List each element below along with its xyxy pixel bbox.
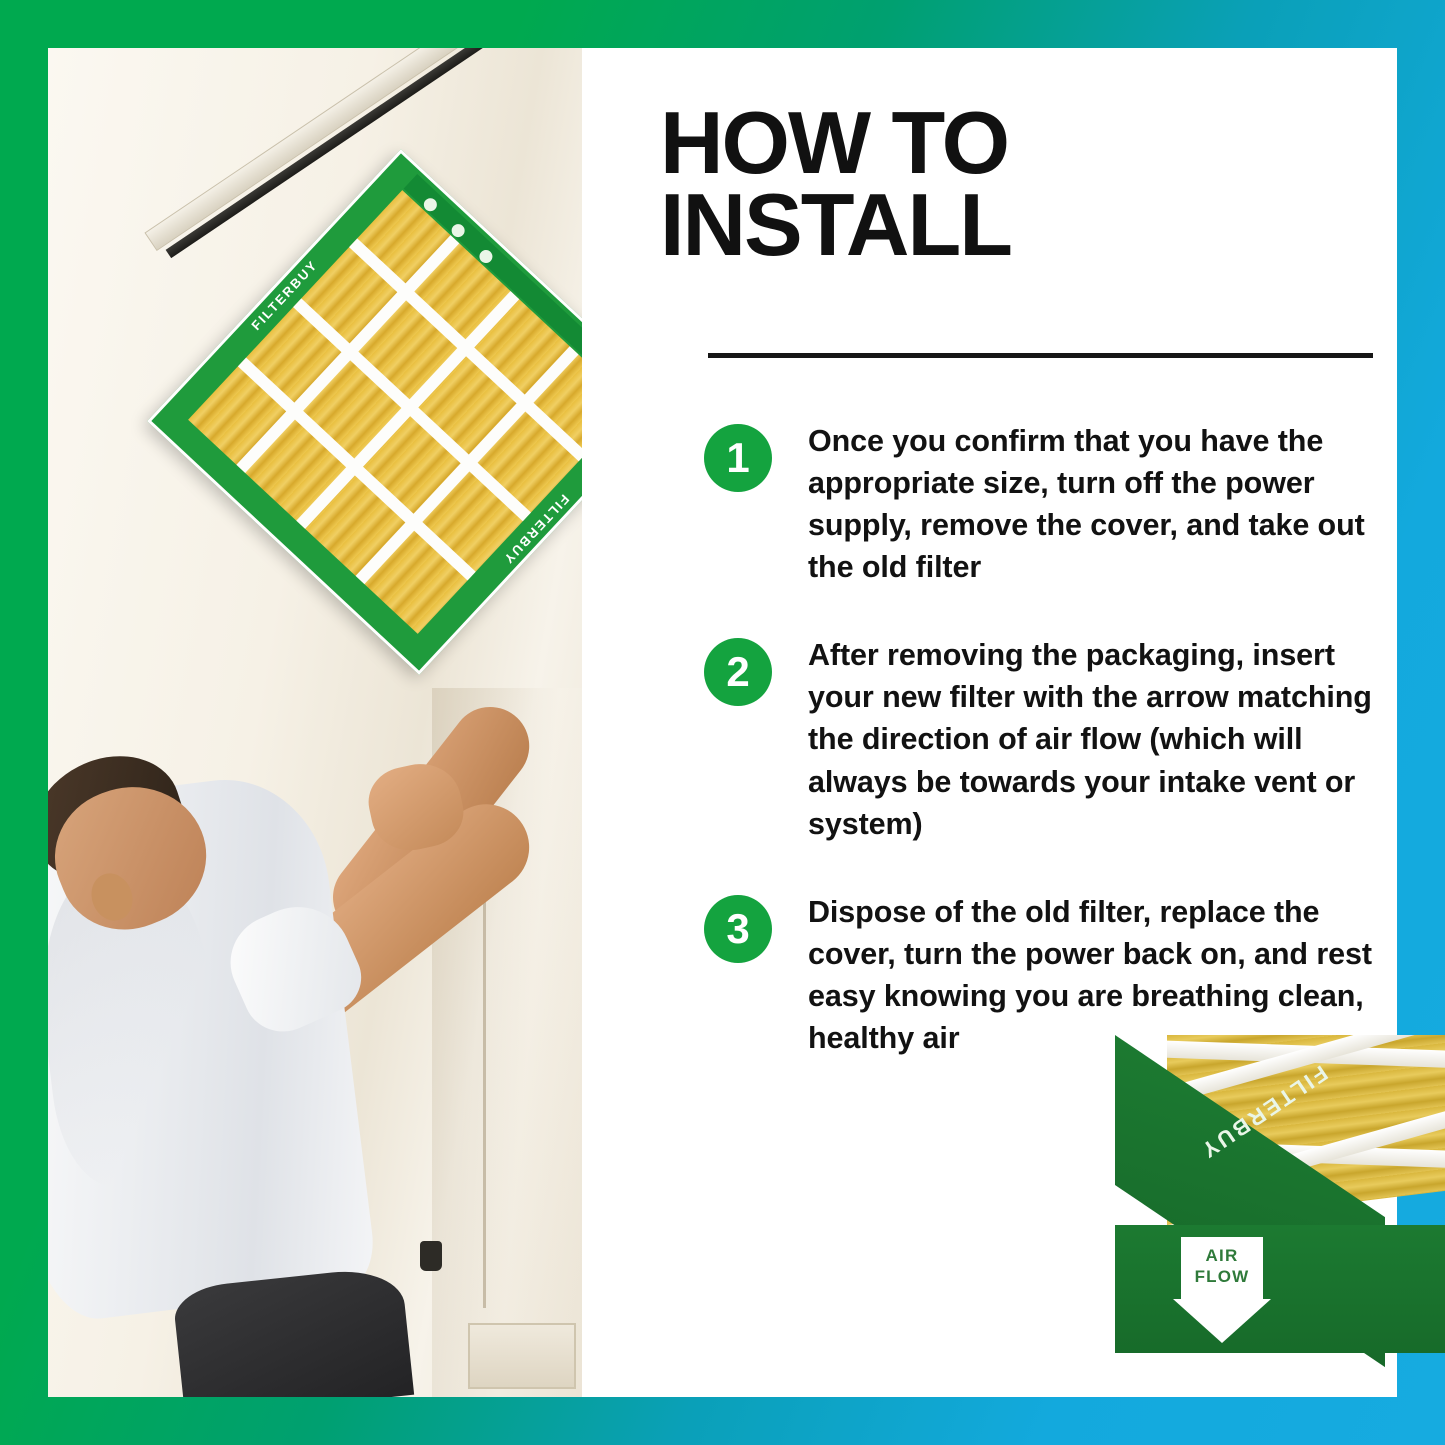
step-item: 1 Once you confirm that you have the app… (704, 420, 1404, 588)
product-front-frame: AIR FLOW (1115, 1225, 1445, 1353)
page-title: HOW TO INSTALL (660, 102, 1360, 266)
air-flow-label-line-1: AIR (1173, 1245, 1271, 1266)
step-number-badge: 2 (704, 638, 772, 706)
photo-floor-vent (468, 1323, 576, 1389)
page-title-line-1: HOW TO (660, 102, 1360, 184)
air-flow-label-line-2: FLOW (1173, 1266, 1271, 1287)
step-text: Once you confirm that you have the appro… (808, 420, 1388, 588)
arrow-head (1173, 1299, 1271, 1343)
step-number-badge: 3 (704, 895, 772, 963)
title-divider (708, 353, 1373, 358)
steps-list: 1 Once you confirm that you have the app… (704, 420, 1404, 1105)
poster-frame: FILTERBUY FILTERBUY (0, 0, 1445, 1445)
step-item: 2 After removing the packaging, insert y… (704, 634, 1404, 844)
step-item: 3 Dispose of the old filter, replace the… (704, 891, 1404, 1059)
step-text: Dispose of the old filter, replace the c… (808, 891, 1388, 1059)
page-title-line-2: INSTALL (660, 184, 1360, 266)
photo-person (48, 697, 468, 1397)
air-flow-arrow-icon: AIR FLOW (1173, 1237, 1271, 1343)
air-flow-label: AIR FLOW (1173, 1245, 1271, 1288)
product-filter-image: FILTERBUY AIR FLOW (1115, 1035, 1445, 1380)
step-number-badge: 1 (704, 424, 772, 492)
step-text: After removing the packaging, insert you… (808, 634, 1388, 844)
install-photo: FILTERBUY FILTERBUY (48, 48, 582, 1397)
